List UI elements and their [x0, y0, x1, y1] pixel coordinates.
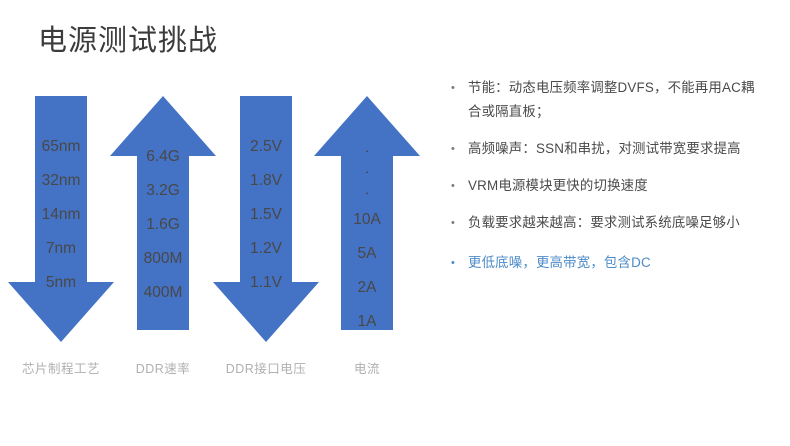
arrow-group-ddr-speed: 6.4G 3.2G 1.6G 800M 400M DDR速率	[110, 96, 216, 396]
arrow-value: 7nm	[8, 232, 114, 266]
arrow-value: 5nm	[8, 266, 114, 300]
list-item: • VRM电源模块更快的切换速度	[448, 174, 768, 198]
list-item: • 高频噪声：SSN和串扰，对测试带宽要求提高	[448, 137, 768, 161]
list-item-text: 节能：动态电压频率调整DVFS，不能再用AC耦合或隔直板；	[468, 80, 755, 119]
list-item-text: 高频噪声：SSN和串扰，对测试带宽要求提高	[468, 141, 741, 156]
bullet-marker-icon: •	[451, 174, 455, 198]
arrow-value: 1.2V	[213, 232, 319, 266]
arrow-value-list: 2.5V 1.8V 1.5V 1.2V 1.1V	[213, 96, 319, 342]
arrow-value: 5A	[314, 237, 420, 271]
arrow-axis-label: 芯片制程工艺	[8, 358, 114, 377]
arrow-group-ddr-voltage: 2.5V 1.8V 1.5V 1.2V 1.1V DDR接口电压	[213, 96, 319, 396]
list-item-text: 负载要求越来越高：要求测试系统底噪足够小	[468, 215, 740, 230]
bullet-marker-icon: •	[451, 137, 455, 161]
arrow-axis-label: DDR速率	[110, 358, 216, 377]
arrow-value-ellipsis: ·	[314, 182, 420, 203]
arrow-value: 2A	[314, 271, 420, 305]
list-item: • 节能：动态电压频率调整DVFS，不能再用AC耦合或隔直板；	[448, 76, 768, 124]
arrow-value: 800M	[110, 242, 216, 276]
slide-canvas: 电源测试挑战 65nm 32nm 14nm 7nm 5nm 芯片制程工艺	[0, 0, 790, 446]
arrow-value: 32nm	[8, 164, 114, 198]
arrow-value: 1.6G	[110, 208, 216, 242]
list-item: • 负载要求越来越高：要求测试系统底噪足够小	[448, 211, 768, 235]
arrow-value-ellipsis: ·	[314, 161, 420, 182]
arrow-value-list: 65nm 32nm 14nm 7nm 5nm	[8, 96, 114, 342]
arrow-group-chip-process: 65nm 32nm 14nm 7nm 5nm 芯片制程工艺	[8, 96, 114, 396]
arrow-value: 400M	[110, 276, 216, 310]
bullet-list: • 节能：动态电压频率调整DVFS，不能再用AC耦合或隔直板； • 高频噪声：S…	[448, 76, 768, 288]
arrow-value-list: · · · 10A 5A 2A 1A	[314, 96, 420, 342]
arrow-value: 1A	[314, 305, 420, 339]
arrow-value: 14nm	[8, 198, 114, 232]
arrow-trend-diagram: 65nm 32nm 14nm 7nm 5nm 芯片制程工艺 6.4G 3.2G …	[0, 96, 446, 396]
arrow-value: 6.4G	[110, 140, 216, 174]
arrow-axis-label: DDR接口电压	[213, 358, 319, 377]
list-item-text: 更低底噪，更高带宽，包含DC	[468, 255, 651, 270]
list-item-text: VRM电源模块更快的切换速度	[468, 178, 648, 193]
arrow-value: 65nm	[8, 130, 114, 164]
bullet-marker-icon: •	[451, 211, 455, 235]
arrow-value-list: 6.4G 3.2G 1.6G 800M 400M	[110, 96, 216, 342]
arrow-value: 1.8V	[213, 164, 319, 198]
bullet-marker-icon: •	[451, 76, 455, 100]
bullet-marker-icon: •	[451, 251, 455, 275]
arrow-value: 1.5V	[213, 198, 319, 232]
arrow-value: 3.2G	[110, 174, 216, 208]
arrow-axis-label: 电流	[314, 358, 420, 377]
arrow-group-current: · · · 10A 5A 2A 1A 电流	[314, 96, 420, 396]
arrow-value-ellipsis: ·	[314, 140, 420, 161]
arrow-value: 1.1V	[213, 266, 319, 300]
arrow-value: 2.5V	[213, 130, 319, 164]
arrow-value: 10A	[314, 203, 420, 237]
page-title: 电源测试挑战	[38, 24, 218, 58]
list-item-highlight: • 更低底噪，更高带宽，包含DC	[448, 251, 768, 275]
